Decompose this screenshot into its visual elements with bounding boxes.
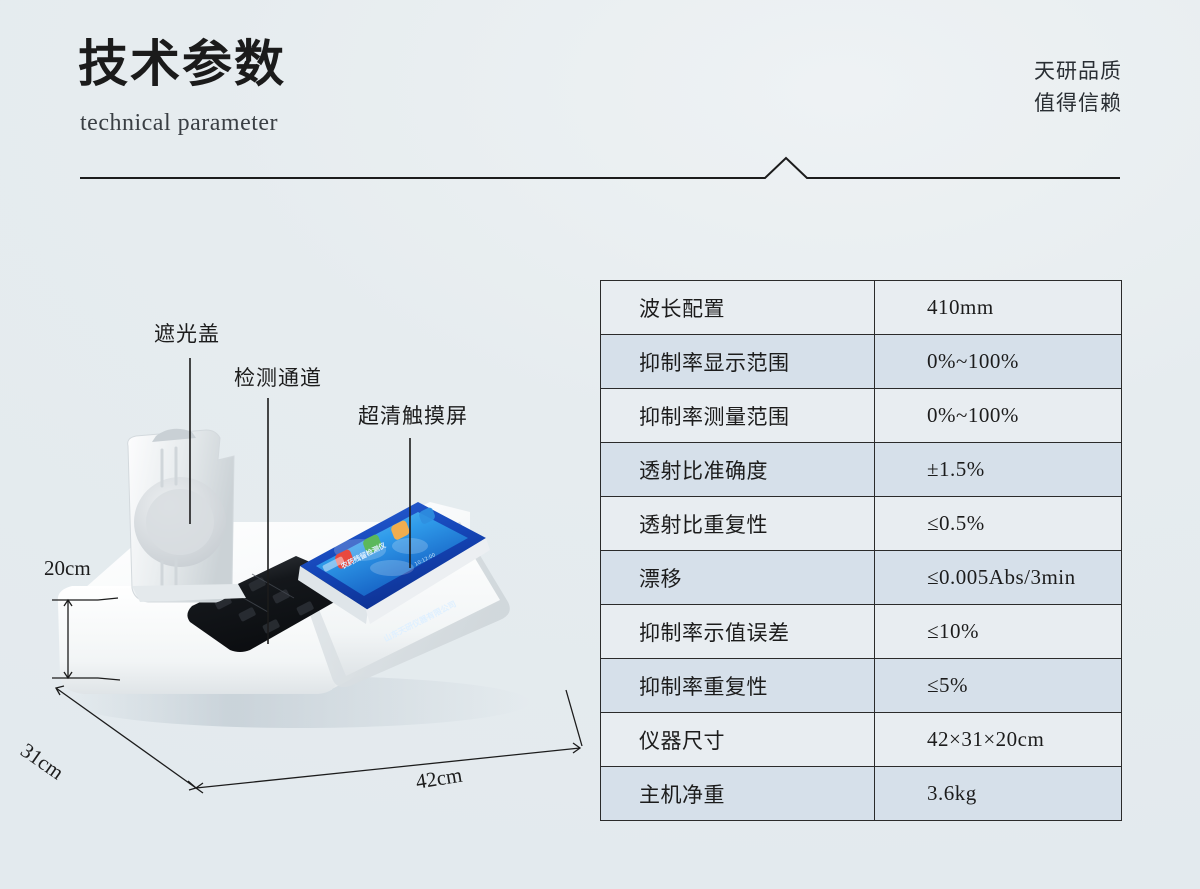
- table-row: 仪器尺寸 42×31×20cm: [601, 713, 1122, 767]
- table-row: 透射比准确度 ±1.5%: [601, 443, 1122, 497]
- spec-key: 抑制率示值误差: [601, 605, 875, 659]
- callout-hd-touch-screen: 超清触摸屏: [358, 400, 468, 430]
- spec-key: 抑制率测量范围: [601, 389, 875, 443]
- spec-key: 漂移: [601, 551, 875, 605]
- dimension-height: 20cm: [44, 556, 91, 581]
- spec-value: 0%~100%: [875, 335, 1122, 389]
- brand-tagline-line1: 天研品质: [1034, 56, 1122, 88]
- table-row: 抑制率显示范围 0%~100%: [601, 335, 1122, 389]
- page-subtitle: technical parameter: [80, 110, 278, 137]
- spec-value: 410mm: [875, 281, 1122, 335]
- spec-key: 主机净重: [601, 767, 875, 821]
- spec-table-body: 波长配置 410mm 抑制率显示范围 0%~100% 抑制率测量范围 0%~10…: [601, 281, 1122, 821]
- table-row: 漂移 ≤0.005Abs/3min: [601, 551, 1122, 605]
- table-row: 主机净重 3.6kg: [601, 767, 1122, 821]
- header-divider: [0, 150, 1200, 190]
- spec-key: 波长配置: [601, 281, 875, 335]
- spec-value: ±1.5%: [875, 443, 1122, 497]
- spec-value: ≤10%: [875, 605, 1122, 659]
- table-row: 抑制率测量范围 0%~100%: [601, 389, 1122, 443]
- spec-key: 抑制率重复性: [601, 659, 875, 713]
- page-title: 技术参数: [78, 36, 286, 91]
- brand-tagline-line2: 值得信赖: [1034, 88, 1122, 120]
- table-row: 波长配置 410mm: [601, 281, 1122, 335]
- table-row: 抑制率重复性 ≤5%: [601, 659, 1122, 713]
- spec-key: 仪器尺寸: [601, 713, 875, 767]
- callout-detection-channel: 检测通道: [234, 362, 322, 392]
- callout-light-shield-cover: 遮光盖: [154, 318, 220, 348]
- spec-key: 透射比准确度: [601, 443, 875, 497]
- spec-value: 3.6kg: [875, 767, 1122, 821]
- spec-table: 波长配置 410mm 抑制率显示范围 0%~100% 抑制率测量范围 0%~10…: [600, 280, 1122, 821]
- spec-key: 透射比重复性: [601, 497, 875, 551]
- table-row: 抑制率示值误差 ≤10%: [601, 605, 1122, 659]
- spec-value: ≤5%: [875, 659, 1122, 713]
- table-row: 透射比重复性 ≤0.5%: [601, 497, 1122, 551]
- brand-tagline: 天研品质 值得信赖: [1034, 56, 1122, 119]
- spec-value: 0%~100%: [875, 389, 1122, 443]
- dimension-lines: [0, 540, 620, 860]
- spec-value: ≤0.5%: [875, 497, 1122, 551]
- spec-key: 抑制率显示范围: [601, 335, 875, 389]
- page-root: 技术参数 technical parameter 天研品质 值得信赖: [0, 0, 1200, 889]
- spec-value: ≤0.005Abs/3min: [875, 551, 1122, 605]
- spec-value: 42×31×20cm: [875, 713, 1122, 767]
